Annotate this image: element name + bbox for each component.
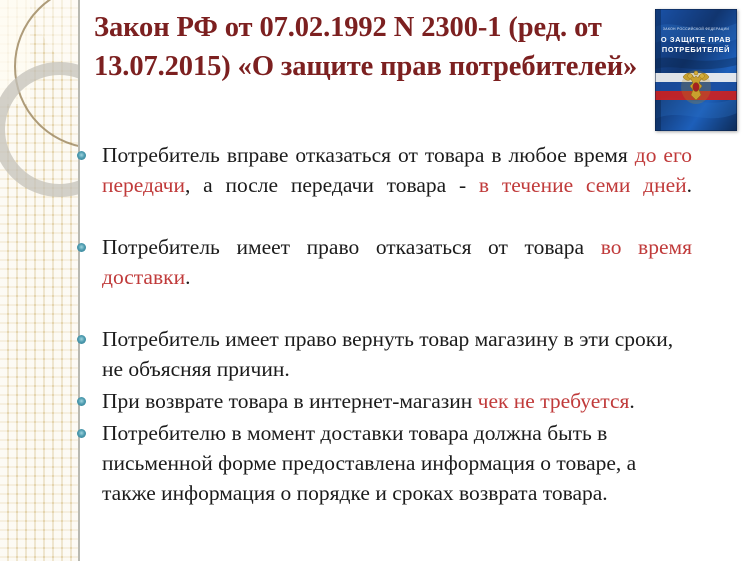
bullet-dot-icon [77,151,86,160]
list-item: Потребитель вправе отказаться от товара … [72,140,692,230]
plain-text: . [185,265,190,289]
page-title: Закон РФ от 07.02.1992 N 2300-1 (ред. от… [94,8,659,86]
book-cover-image: ЗАКОН РОССИЙСКОЙ ФЕДЕРАЦИИ О ЗАЩИТЕ ПРАВ… [655,9,737,131]
list-item: Потребитель имеет право вернуть товар ма… [72,324,692,384]
decorative-light-wedge [0,0,30,104]
list-item-text: Потребитель имеет право отказаться от то… [102,232,692,322]
book-cover-title-line-2: ПОТРЕБИТЕЛЕЙ [662,45,730,54]
plain-text: Потребитель имеет право отказаться от то… [102,235,601,259]
highlighted-text: в течение семи дней [479,173,687,197]
plain-text: . [687,173,692,197]
bullet-dot-icon [77,243,86,252]
book-cover-title-line-1: О ЗАЩИТЕ ПРАВ [661,35,731,44]
bullet-dot-icon [77,335,86,344]
highlighted-text: чек не требуется [478,389,630,413]
plain-text: Потребитель вправе отказаться от товара … [102,143,635,167]
plain-text: Потребитель имеет право вернуть товар ма… [102,327,673,381]
list-item-text: Потребителю в момент доставки товара дол… [102,418,692,508]
list-item: Потребителю в момент доставки товара дол… [72,418,692,508]
slide: Закон РФ от 07.02.1992 N 2300-1 (ред. от… [0,0,750,561]
plain-text: . [629,389,634,413]
plain-text: При возврате товара в интернет-магазин [102,389,478,413]
plain-text: Потребителю в момент доставки товара дол… [102,421,636,505]
bullet-list: Потребитель вправе отказаться от товара … [72,140,692,510]
coat-of-arms-icon [681,70,711,104]
book-cover-top-line: ЗАКОН РОССИЙСКОЙ ФЕДЕРАЦИИ [663,27,729,31]
list-item: При возврате товара в интернет-магазин ч… [72,386,692,416]
list-item: Потребитель имеет право отказаться от то… [72,232,692,322]
page-title-line-2: 13.07.2015) «О защите прав потребителей» [94,51,637,82]
decorative-side-band [0,0,80,561]
page-title-line-1: Закон РФ от 07.02.1992 N 2300-1 (ред. от [94,12,602,43]
bullet-dot-icon [77,397,86,406]
list-item-text: Потребитель имеет право вернуть товар ма… [102,324,692,384]
list-item-text: Потребитель вправе отказаться от товара … [102,140,692,230]
plain-text: , а после передачи товара - [185,173,479,197]
list-item-text: При возврате товара в интернет-магазин ч… [102,386,692,416]
book-cover-svg: ЗАКОН РОССИЙСКОЙ ФЕДЕРАЦИИ О ЗАЩИТЕ ПРАВ… [655,9,737,131]
bullet-dot-icon [77,429,86,438]
